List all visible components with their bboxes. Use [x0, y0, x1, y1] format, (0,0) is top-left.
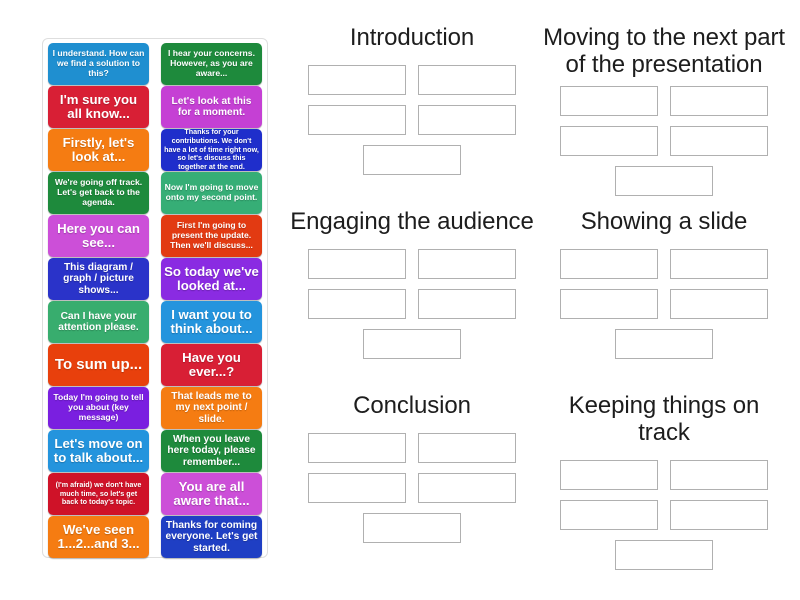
drop-slot[interactable]: [670, 289, 768, 319]
drop-slot[interactable]: [670, 86, 768, 116]
phrase-tile-label: Let's move on to talk about...: [51, 437, 146, 465]
phrase-tile[interactable]: We're going off track. Let's get back to…: [48, 172, 149, 214]
phrase-tile-label: This diagram / graph / picture shows...: [51, 262, 146, 296]
drop-slot[interactable]: [560, 126, 658, 156]
phrase-tile[interactable]: When you leave here today, please rememb…: [161, 430, 262, 472]
phrase-tile-label: So today we've looked at...: [164, 265, 259, 293]
phrase-tile-label: I understand. How can we find a solution…: [51, 49, 146, 79]
phrase-tile-label: To sum up...: [51, 357, 146, 373]
phrase-tile[interactable]: That leads me to my next point / slide.: [161, 387, 262, 429]
drop-slot[interactable]: [560, 460, 658, 490]
phrase-tile[interactable]: This diagram / graph / picture shows...: [48, 258, 149, 300]
phrase-tile-label: We're going off track. Let's get back to…: [51, 178, 146, 208]
category-group: Engaging the audience: [288, 208, 536, 392]
phrase-tile-label: Now I'm going to move onto my second poi…: [164, 183, 259, 203]
drop-slot[interactable]: [308, 289, 406, 319]
phrase-tile[interactable]: I understand. How can we find a solution…: [48, 43, 149, 85]
drop-slot[interactable]: [615, 166, 713, 196]
drop-slot[interactable]: [560, 289, 658, 319]
phrase-tile-label: You are all aware that...: [164, 480, 259, 508]
phrase-tile-label: We've seen 1...2...and 3...: [51, 523, 146, 551]
phrase-tile-label: (I'm afraid) we don't have much time, so…: [51, 481, 146, 507]
drop-slot[interactable]: [363, 513, 461, 543]
phrase-tile-label: Can I have your attention please.: [51, 311, 146, 334]
phrase-tile[interactable]: I want you to think about...: [161, 301, 262, 343]
drop-slot-list: [560, 249, 768, 359]
phrase-tile-label: Firstly, let's look at...: [51, 136, 146, 164]
phrase-tile[interactable]: Now I'm going to move onto my second poi…: [161, 172, 262, 214]
drop-slot[interactable]: [363, 145, 461, 175]
drop-slot[interactable]: [670, 460, 768, 490]
category-group: Keeping things on track: [540, 392, 788, 576]
category-group: Introduction: [288, 24, 536, 208]
drop-slot-list: [560, 86, 768, 196]
drop-slot-list: [308, 65, 516, 175]
phrase-tile-label: I hear your concerns. However, as you ar…: [164, 49, 259, 79]
drop-slot[interactable]: [418, 289, 516, 319]
category-group-title: Showing a slide: [540, 208, 788, 235]
category-group-title: Engaging the audience: [288, 208, 536, 235]
drop-slot[interactable]: [560, 500, 658, 530]
phrase-tile[interactable]: Thanks for your contributions. We don't …: [161, 129, 262, 171]
drop-slot[interactable]: [363, 329, 461, 359]
phrase-tile[interactable]: To sum up...: [48, 344, 149, 386]
phrase-tile[interactable]: Let's look at this for a moment.: [161, 86, 262, 128]
phrase-tile[interactable]: Firstly, let's look at...: [48, 129, 149, 171]
phrase-tile-label: First I'm going to present the update. T…: [164, 221, 259, 251]
category-group-title: Introduction: [288, 24, 536, 51]
drop-slot[interactable]: [418, 433, 516, 463]
phrase-tile-label: When you leave here today, please rememb…: [164, 434, 259, 468]
category-group: Moving to the next part of the presentat…: [540, 24, 788, 208]
drop-slot[interactable]: [308, 65, 406, 95]
phrase-tile[interactable]: Have you ever...?: [161, 344, 262, 386]
category-group: Conclusion: [288, 392, 536, 576]
drop-slot[interactable]: [560, 249, 658, 279]
phrase-tile-label: Let's look at this for a moment.: [164, 96, 259, 119]
drop-slot[interactable]: [418, 105, 516, 135]
drop-slot[interactable]: [670, 126, 768, 156]
drop-slot-list: [308, 433, 516, 543]
phrase-tile[interactable]: We've seen 1...2...and 3...: [48, 516, 149, 558]
drop-slot[interactable]: [670, 249, 768, 279]
phrase-tile[interactable]: Thanks for coming everyone. Let's get st…: [161, 516, 262, 558]
drop-slot-list: [560, 460, 768, 570]
drop-slot[interactable]: [308, 473, 406, 503]
phrase-tile[interactable]: First I'm going to present the update. T…: [161, 215, 262, 257]
phrase-tile-label: Here you can see...: [51, 222, 146, 250]
drop-slot[interactable]: [418, 65, 516, 95]
category-group-title: Keeping things on track: [540, 392, 788, 446]
phrase-tile-label: Thanks for your contributions. We don't …: [164, 129, 259, 171]
drop-slot[interactable]: [308, 105, 406, 135]
drop-slot[interactable]: [615, 540, 713, 570]
drop-slot[interactable]: [670, 500, 768, 530]
phrase-tile[interactable]: I hear your concerns. However, as you ar…: [161, 43, 262, 85]
category-group-title: Conclusion: [288, 392, 536, 419]
phrase-tile-label: I want you to think about...: [164, 308, 259, 336]
phrase-tile[interactable]: Can I have your attention please.: [48, 301, 149, 343]
phrase-tile[interactable]: Let's move on to talk about...: [48, 430, 149, 472]
drop-slot[interactable]: [418, 473, 516, 503]
category-groups: IntroductionMoving to the next part of t…: [288, 24, 788, 576]
phrase-tile[interactable]: Today I'm going to tell you about (key m…: [48, 387, 149, 429]
phrase-tile-label: That leads me to my next point / slide.: [164, 391, 259, 425]
drop-slot-list: [308, 249, 516, 359]
drop-slot[interactable]: [308, 249, 406, 279]
category-group-title: Moving to the next part of the presentat…: [540, 24, 788, 78]
phrase-tile-label: Have you ever...?: [164, 351, 259, 379]
phrase-tile[interactable]: (I'm afraid) we don't have much time, so…: [48, 473, 149, 515]
phrase-tile[interactable]: You are all aware that...: [161, 473, 262, 515]
phrase-tile-label: I'm sure you all know...: [51, 93, 146, 121]
phrase-tile-label: Today I'm going to tell you about (key m…: [51, 393, 146, 423]
drop-slot[interactable]: [308, 433, 406, 463]
phrase-tile[interactable]: Here you can see...: [48, 215, 149, 257]
category-group: Showing a slide: [540, 208, 788, 392]
phrase-tile-label: Thanks for coming everyone. Let's get st…: [164, 520, 259, 554]
drop-slot[interactable]: [615, 329, 713, 359]
drop-slot[interactable]: [560, 86, 658, 116]
tile-bank: I understand. How can we find a solution…: [42, 38, 268, 558]
group-sort-activity: I understand. How can we find a solution…: [0, 0, 800, 600]
tile-grid: I understand. How can we find a solution…: [48, 43, 262, 558]
drop-slot[interactable]: [418, 249, 516, 279]
phrase-tile[interactable]: So today we've looked at...: [161, 258, 262, 300]
phrase-tile[interactable]: I'm sure you all know...: [48, 86, 149, 128]
